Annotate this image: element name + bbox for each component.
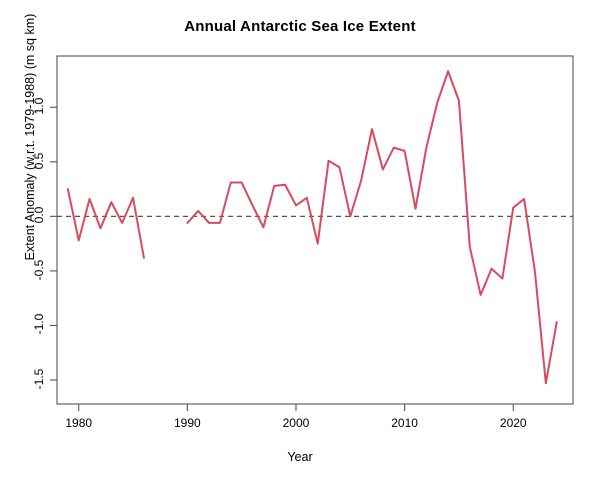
x-tick-label: 1980	[49, 416, 109, 430]
y-tick-label: -0.5	[32, 250, 46, 290]
y-tick-label: 1.0	[32, 86, 46, 126]
data-series-line	[68, 71, 557, 383]
y-tick-label: 0.0	[32, 195, 46, 235]
x-tick-label: 2000	[266, 416, 326, 430]
x-tick-label: 2020	[483, 416, 543, 430]
y-tick-label: 0.5	[32, 141, 46, 181]
y-tick-label: -1.5	[32, 359, 46, 399]
axes-box	[50, 56, 573, 411]
plot-area	[0, 0, 600, 480]
x-tick-label: 2010	[375, 416, 435, 430]
x-tick-label: 1990	[157, 416, 217, 430]
chart-figure: Annual Antarctic Sea Ice Extent Extent A…	[0, 0, 600, 480]
y-tick-label: -1.0	[32, 304, 46, 344]
